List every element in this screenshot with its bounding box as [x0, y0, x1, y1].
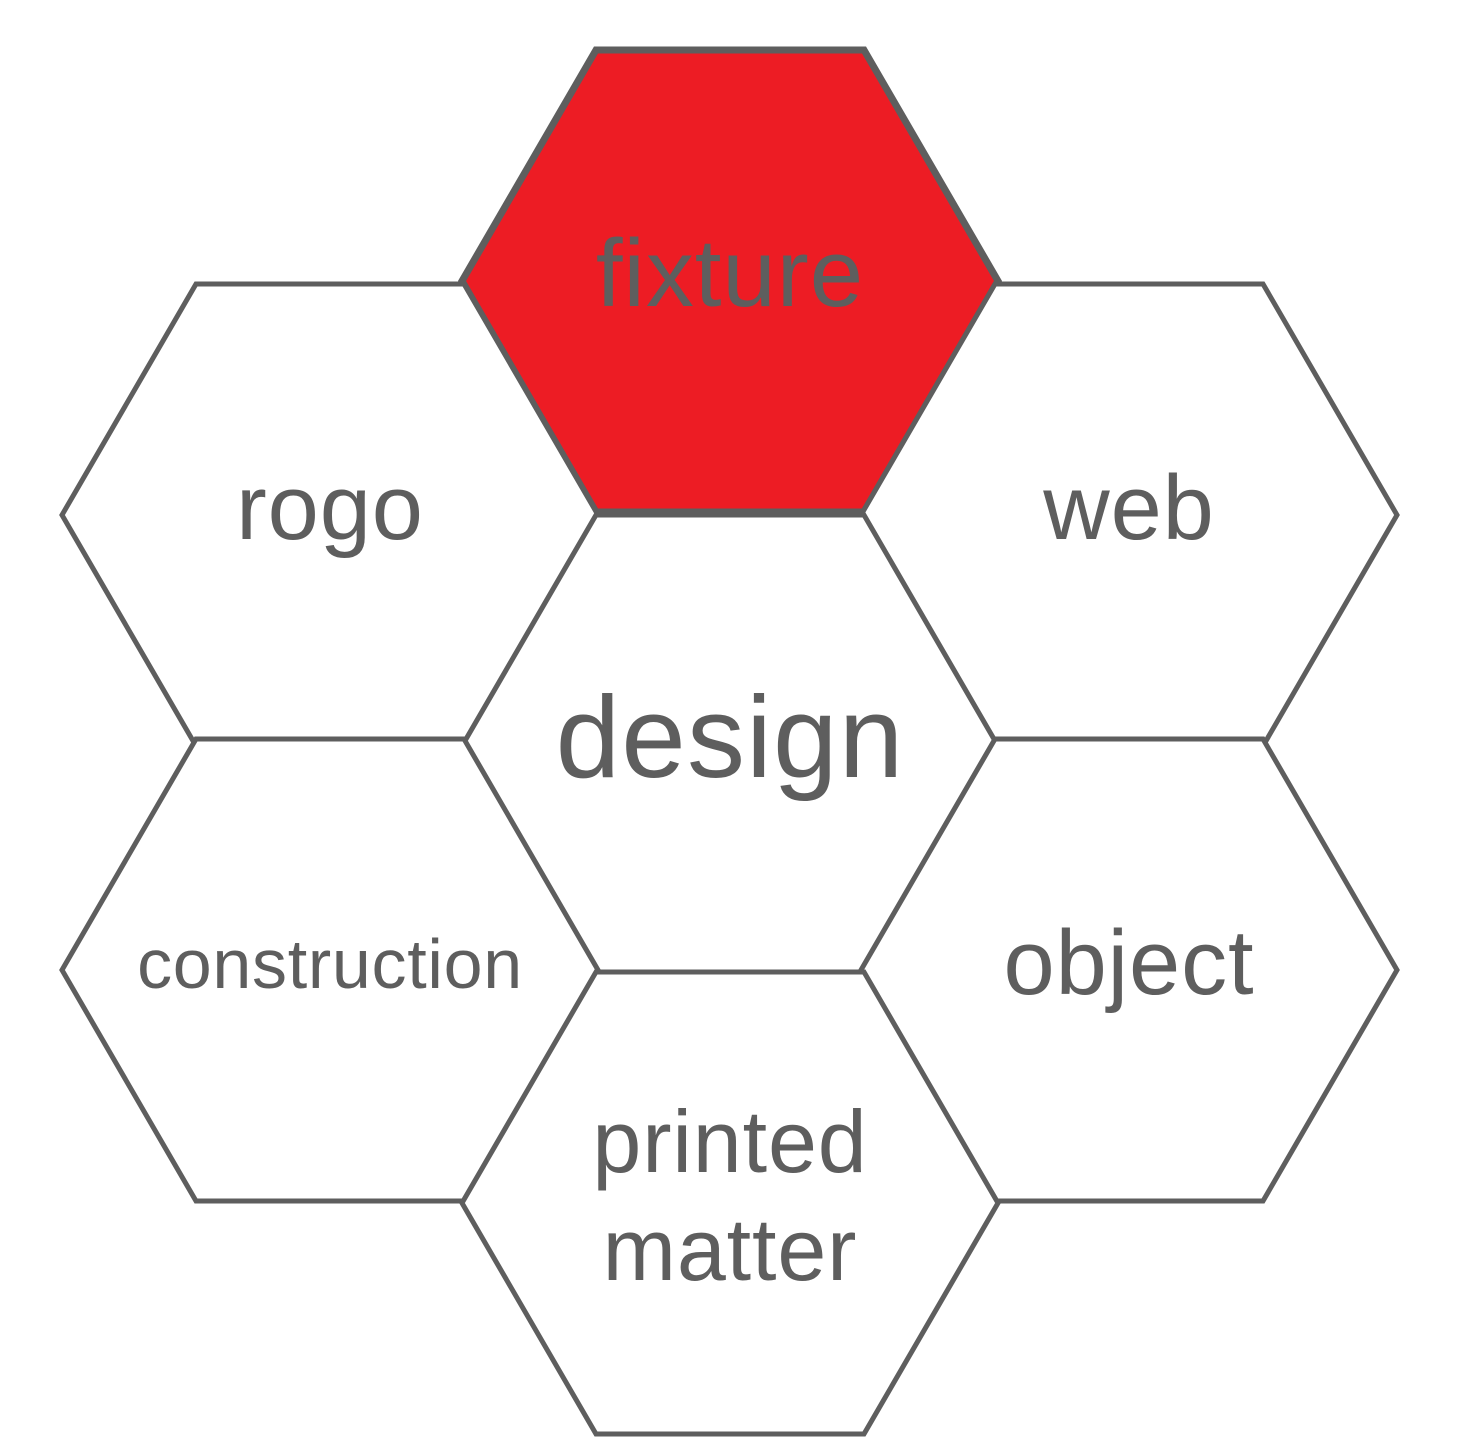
hexagon-label-line: construction [137, 925, 523, 1003]
hexagon-label-line: matter [603, 1200, 858, 1299]
hexagon-label-web: web [1042, 457, 1215, 559]
hexagon-label-construction: construction [137, 925, 523, 1003]
hexagon-label-rogo: rogo [236, 457, 424, 559]
hexagon-label-line: rogo [236, 457, 424, 559]
hexagon-label-line: printed [592, 1092, 867, 1191]
hexagon-label-fixture: fixture [596, 220, 864, 327]
hexagon-label-line: fixture [596, 220, 864, 327]
hexagon-label-line: web [1042, 457, 1215, 559]
hexagon-label-line: object [1003, 912, 1254, 1014]
honeycomb-canvas: fixturerogowebdesignconstructionobjectpr… [0, 0, 1483, 1449]
hexagon-label-design: design [556, 672, 905, 802]
hexagon-label-object: object [1003, 912, 1254, 1014]
hexagon-label-line: design [556, 672, 905, 802]
honeycomb-diagram: fixturerogowebdesignconstructionobjectpr… [0, 0, 1483, 1449]
